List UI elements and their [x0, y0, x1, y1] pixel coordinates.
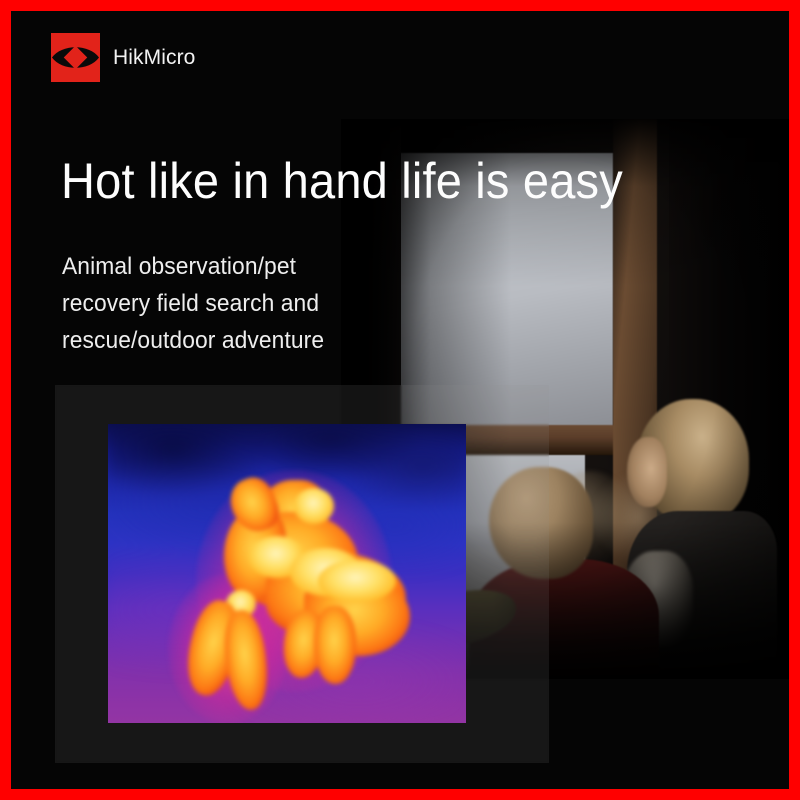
banner-stage: HikMicro Hot like in hand life is easy A… — [11, 11, 789, 789]
brand-logo: HikMicro — [51, 33, 195, 82]
thermal-hind-leg-right — [314, 606, 356, 684]
subtitle-line-2: recovery field search and — [62, 286, 324, 323]
subtitle-line-1: Animal observation/pet — [62, 249, 324, 286]
thermal-hot-subjects — [108, 424, 466, 723]
thermal-hotspot-rear — [318, 560, 396, 602]
thermal-hotspot-head — [294, 488, 334, 524]
promo-banner: HikMicro Hot like in hand life is easy A… — [0, 0, 800, 800]
subtitle-line-3: rescue/outdoor adventure — [62, 323, 324, 360]
subtitle: Animal observation/pet recovery field se… — [62, 249, 324, 360]
hikmicro-eye-logo-icon — [51, 33, 100, 82]
thermal-image-of-dogs — [108, 424, 466, 723]
page-title: Hot like in hand life is easy — [61, 152, 623, 210]
brand-name: HikMicro — [113, 46, 195, 70]
